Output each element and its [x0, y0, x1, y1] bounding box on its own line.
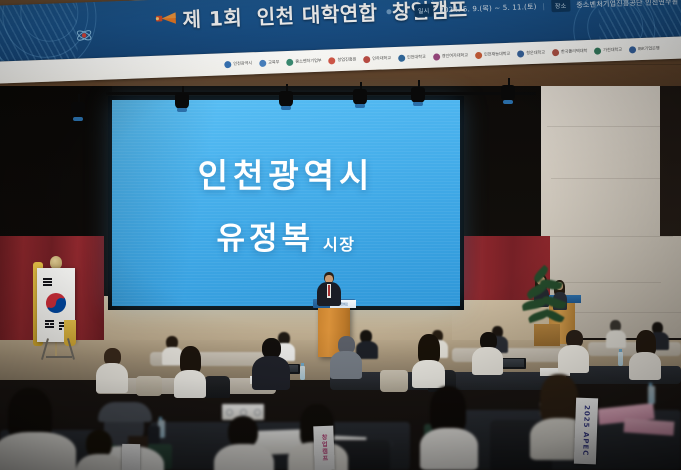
stage-spotlight: [411, 87, 425, 103]
sponsor-label: 인천재능대학교: [484, 51, 510, 58]
smartphone: [148, 426, 160, 444]
stage-spotlight: [353, 89, 367, 105]
right-dark-wall: [660, 86, 681, 236]
sponsor-label: IBK기업은행: [638, 45, 660, 52]
sponsor-mark-icon: [224, 61, 231, 68]
sponsor-label: 창업진흥원: [337, 56, 356, 63]
chair-sign-pink-text: 창업캠프: [319, 434, 329, 462]
chair-sign-apec-text: 2025 APEC: [581, 405, 591, 457]
chair-sign-left: [122, 444, 140, 470]
chair: [204, 376, 230, 398]
chair-sign-apec: 2025 APEC: [574, 398, 598, 465]
sponsor-logo: 교육부: [259, 59, 280, 67]
sponsor-label: 청운대학교: [526, 50, 545, 57]
sponsor-label: 경인여자대학교: [442, 52, 468, 59]
flag-stand-base: [46, 356, 72, 358]
sponsor-mark-icon: [552, 49, 559, 56]
sponsor-logo: 한국폴리텍대학: [552, 47, 588, 55]
sponsor-label: 교육부: [268, 59, 279, 65]
sponsor-logo: 인천재능대학교: [475, 50, 511, 58]
sponsor-mark-icon: [594, 47, 601, 54]
sponsor-logo: 경인여자대학교: [433, 52, 469, 60]
sponsor-logo: 중소벤처기업부: [286, 57, 322, 65]
screen-speaker-role: 시장: [323, 231, 355, 258]
sponsor-mark-icon: [259, 59, 266, 66]
sponsor-logo: 인천광역시: [224, 60, 252, 68]
sponsor-logo: 청운대학교: [517, 49, 545, 57]
sponsor-logo: 인하대학교: [363, 55, 391, 63]
sponsor-label: 인천광역시: [233, 60, 252, 67]
stage-spotlight: [71, 102, 85, 118]
banner-main-text: 인천 대학연합: [256, 1, 378, 29]
water-bottle: [300, 366, 305, 380]
taeguk-symbol: [46, 293, 66, 313]
stage-spotlight: [279, 91, 293, 107]
chair: [380, 370, 408, 392]
chair-sign-pink: 창업캠프: [313, 426, 335, 470]
sponsor-label: 중소벤처기업부: [295, 58, 321, 65]
laptop: [500, 358, 526, 369]
sponsor-mark-icon: [328, 57, 335, 64]
atom-icon: [75, 26, 94, 45]
sponsor-logo: 인천대학교: [398, 53, 426, 61]
conference-photo-scene: 제 1회 인천 대학연합 창업캠프 일시 2024. 5. 9.(목) ~ 5.…: [0, 0, 681, 470]
sponsor-mark-icon: [398, 54, 405, 61]
sponsor-mark-icon: [363, 55, 370, 62]
sponsor-label: 가천대학교: [603, 47, 622, 54]
screen-speaker-name: 유정복: [216, 213, 314, 258]
plant-pot: [534, 324, 560, 346]
screen-line-1: 인천광역시: [198, 149, 375, 197]
sponsor-label: 인천대학교: [407, 54, 426, 61]
sponsor-logo: IBK기업은행: [629, 45, 660, 53]
flag-tassel: [64, 320, 76, 346]
projection-screen: 인천광역시 유정복 시장: [112, 100, 460, 306]
water-bottle: [648, 386, 655, 404]
sponsor-logo: 창업진흥원: [328, 56, 356, 64]
lighting-truss: [106, 92, 536, 95]
sponsor-mark-icon: [517, 50, 524, 57]
sponsor-label: 인하대학교: [372, 55, 391, 62]
sponsor-mark-icon: [629, 46, 636, 53]
stage-spotlight: [175, 93, 189, 109]
cap-icon: [98, 402, 152, 422]
chair: [136, 376, 162, 396]
rocket-icon: [154, 10, 179, 27]
sponsor-label: 한국폴리텍대학: [561, 48, 587, 55]
sponsor-mark-icon: [433, 53, 440, 60]
meta-separator: |: [542, 2, 545, 10]
sponsor-logo: 가천대학교: [594, 46, 622, 54]
sponsor-mark-icon: [286, 58, 293, 65]
place-chip: 장소: [551, 0, 571, 12]
date-text: 2024. 5. 9.(목) ~ 5. 11.(토): [439, 1, 537, 15]
stage-spotlight: [501, 85, 515, 101]
banner-ordinal: 제 1회: [182, 6, 243, 32]
date-chip: 일시: [414, 4, 434, 18]
water-bottle: [618, 352, 623, 366]
sponsor-mark-icon: [475, 51, 482, 58]
